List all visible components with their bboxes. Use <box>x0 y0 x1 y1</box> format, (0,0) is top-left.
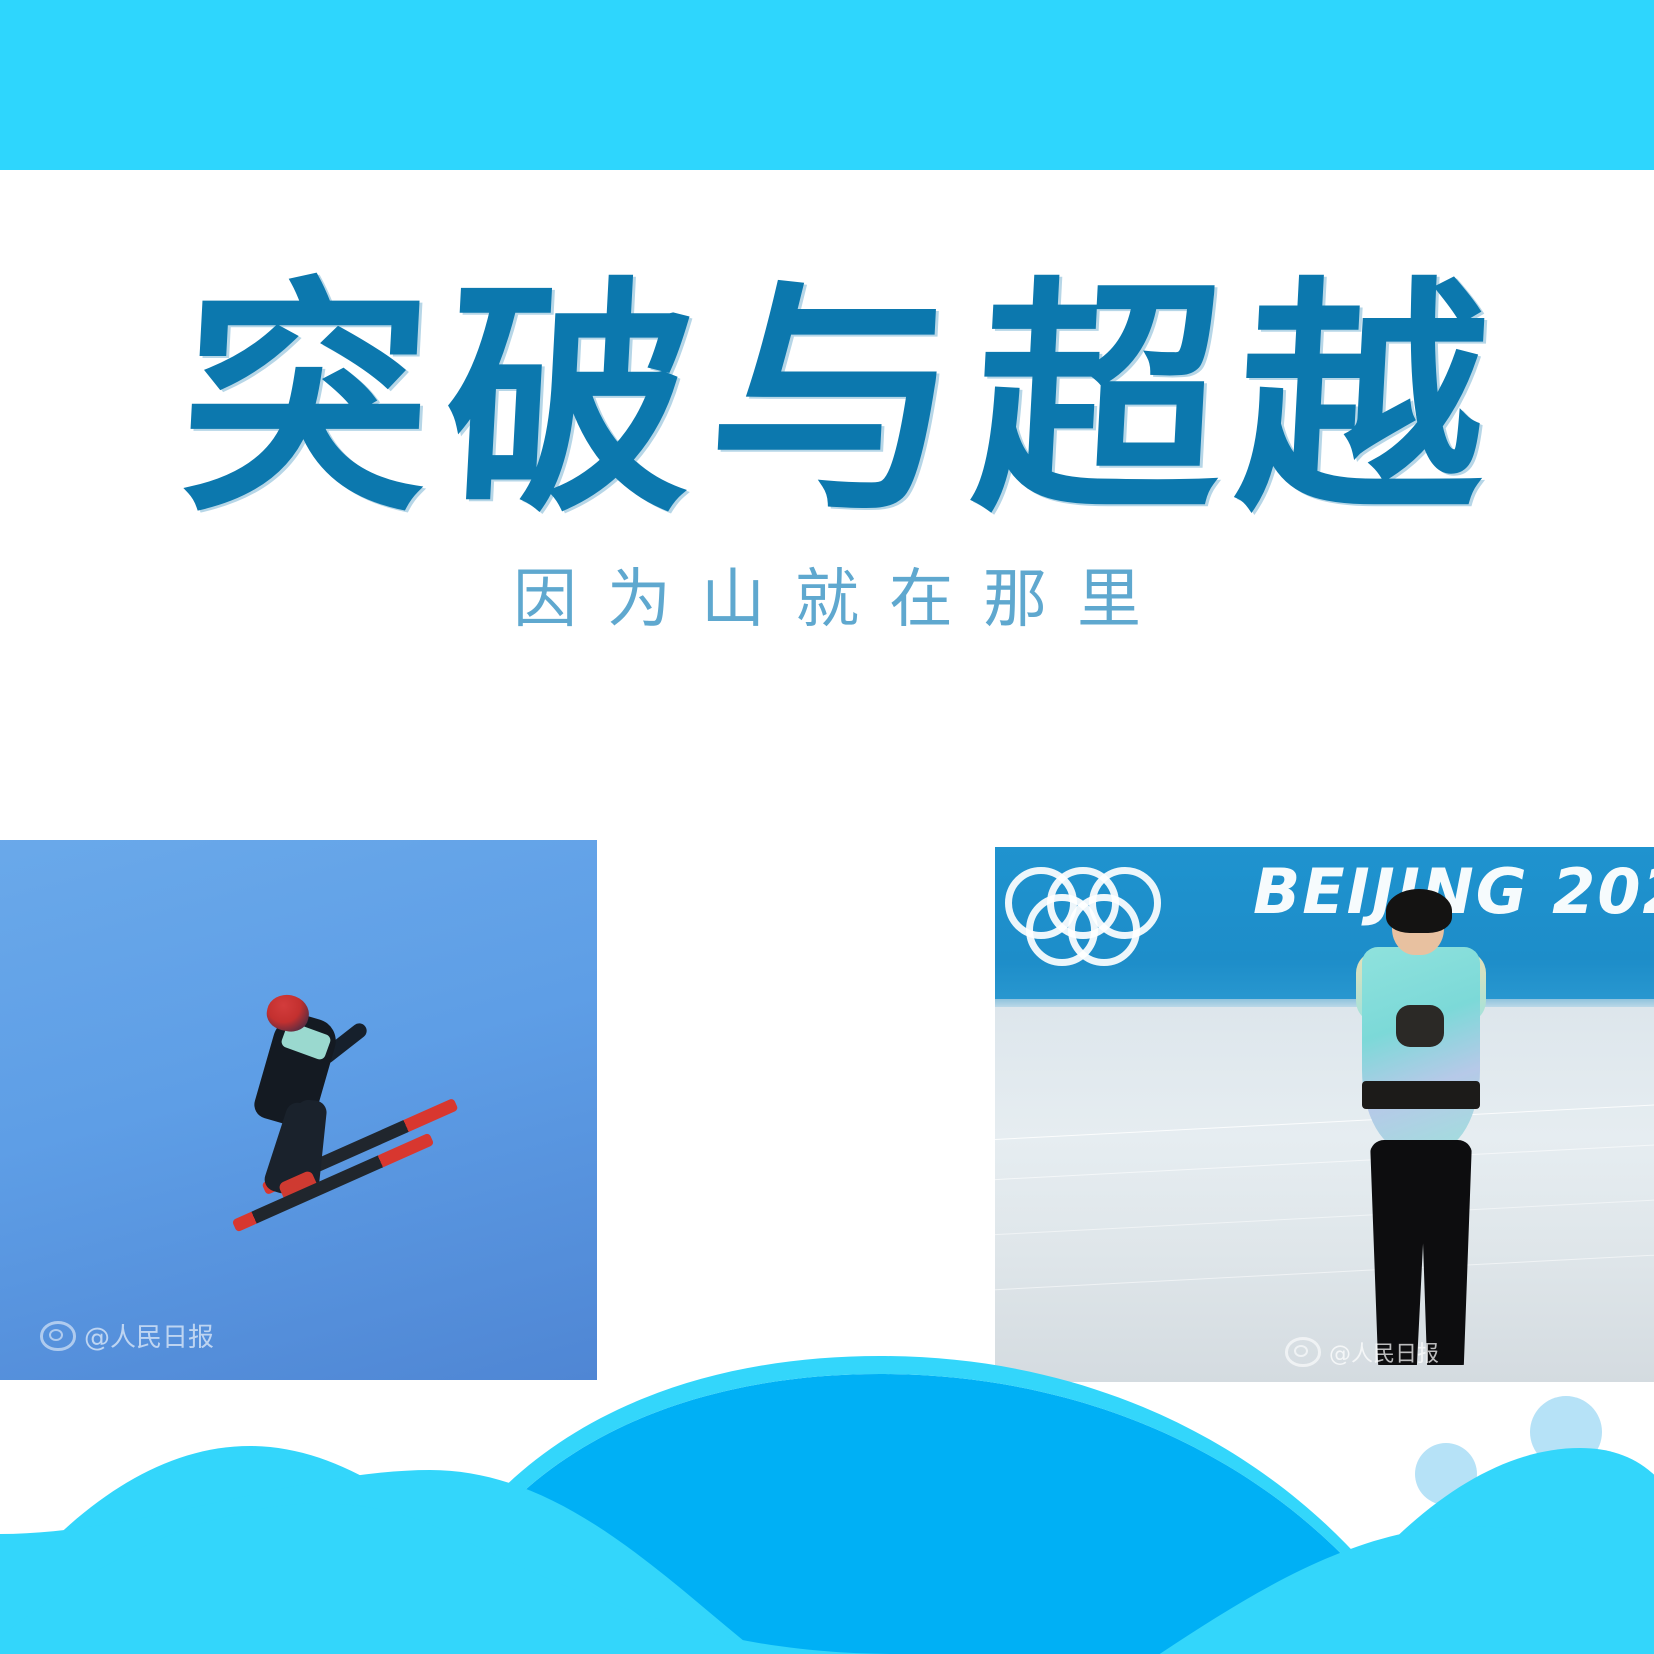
figure-skater-figure <box>1330 895 1510 1365</box>
poster-canvas: 突破与超越 因为山就在那里 @人民日报 <box>0 0 1654 1654</box>
skater-costume <box>1362 947 1480 1152</box>
decor-dot-large <box>1530 1396 1602 1468</box>
skater-belt <box>1362 1081 1480 1109</box>
page-subtitle: 因为山就在那里 <box>0 568 1654 632</box>
weibo-watermark-text: @人民日报 <box>1329 1336 1439 1368</box>
skater-legs <box>1370 1140 1472 1365</box>
weibo-icon <box>40 1321 76 1351</box>
skier-figure <box>215 990 415 1230</box>
wave-back-center <box>420 1374 1420 1654</box>
weibo-watermark-text: @人民日报 <box>84 1317 214 1354</box>
wave-foreground-right <box>1100 1526 1654 1654</box>
skater-gloves <box>1396 1005 1444 1047</box>
top-banner <box>0 0 1654 170</box>
page-title: 突破与超越 <box>0 275 1654 528</box>
decor-dot-small <box>1415 1443 1477 1505</box>
weibo-icon <box>1285 1337 1321 1367</box>
photo-freestyle-skier: @人民日报 <box>0 840 597 1380</box>
photo-figure-skater: BEIJING 2022 @人民日报 <box>995 847 1654 1382</box>
wave-front-band <box>0 1470 760 1654</box>
headline-block: 突破与超越 因为山就在那里 <box>0 275 1654 632</box>
wave-right-peak <box>1300 1448 1654 1654</box>
wave-foreground <box>0 1504 900 1654</box>
wave-left-peak <box>0 1446 545 1654</box>
weibo-watermark-left: @人民日报 <box>40 1317 214 1354</box>
wave-center-rim <box>404 1356 1430 1654</box>
ice-surface <box>995 1007 1654 1382</box>
weibo-watermark-right: @人民日报 <box>1285 1336 1439 1368</box>
skater-hair <box>1386 889 1452 933</box>
olympic-rings-icon <box>1005 867 1180 953</box>
